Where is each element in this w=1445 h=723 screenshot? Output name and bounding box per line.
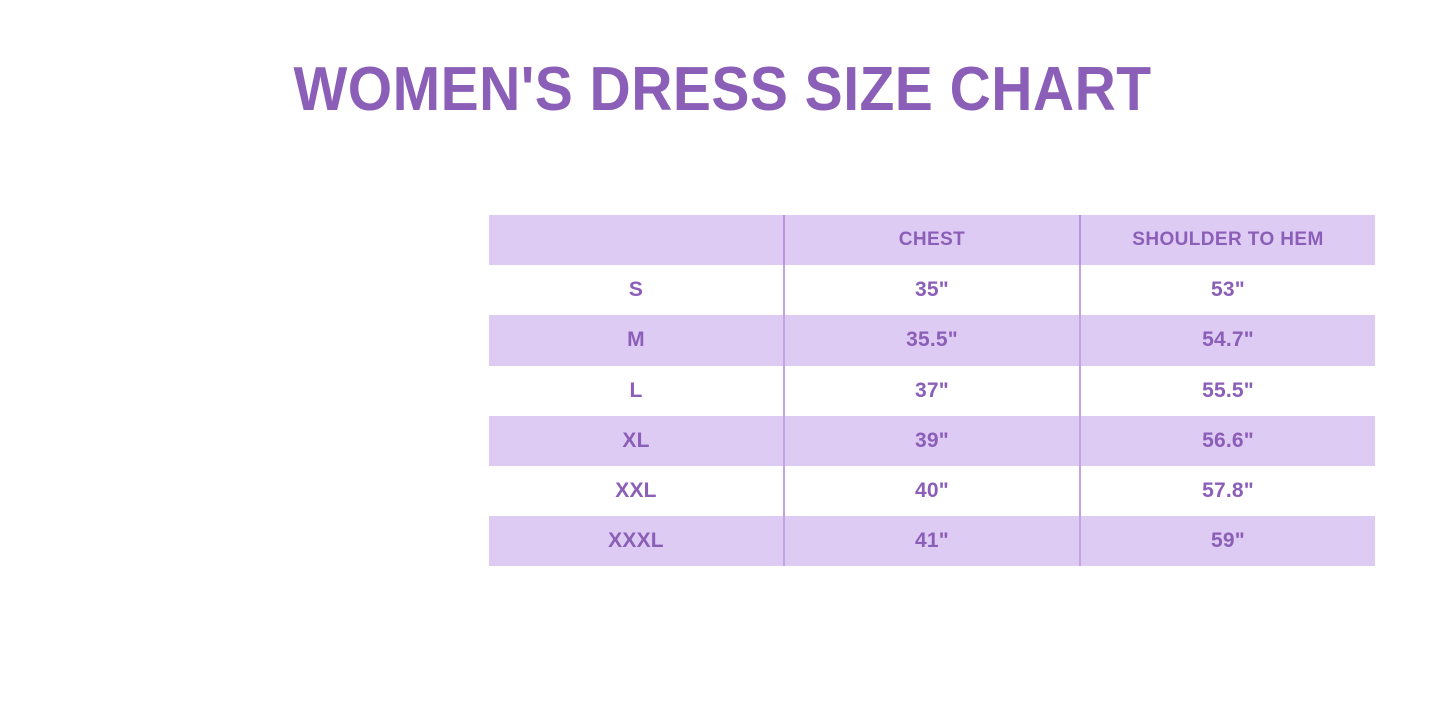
cell-size: S (489, 265, 784, 315)
cell-shoulder-to-hem: 57.8" (1080, 466, 1375, 516)
table-row: S 35" 53" (489, 265, 1375, 315)
table-row: L 37" 55.5" (489, 366, 1375, 416)
table-row: M 35.5" 54.7" (489, 315, 1375, 365)
column-header-size (489, 215, 784, 265)
table-header-row: CHEST SHOULDER TO HEM (489, 215, 1375, 265)
cell-shoulder-to-hem: 53" (1080, 265, 1375, 315)
cell-chest: 35" (784, 265, 1080, 315)
size-chart-table: CHEST SHOULDER TO HEM S 35" 53" M 35.5" … (489, 215, 1375, 566)
cell-size: XXL (489, 466, 784, 516)
table-body: S 35" 53" M 35.5" 54.7" L 37" 55.5" XL 3… (489, 265, 1375, 566)
table-header: CHEST SHOULDER TO HEM (489, 215, 1375, 265)
table-row: XXL 40" 57.8" (489, 466, 1375, 516)
cell-chest: 37" (784, 366, 1080, 416)
cell-chest: 41" (784, 516, 1080, 566)
table-row: XXXL 41" 59" (489, 516, 1375, 566)
cell-size: L (489, 366, 784, 416)
cell-shoulder-to-hem: 54.7" (1080, 315, 1375, 365)
table-row: XL 39" 56.6" (489, 416, 1375, 466)
size-chart-page: WOMEN'S DRESS SIZE CHART CHEST SHOULDER … (0, 0, 1445, 723)
cell-shoulder-to-hem: 59" (1080, 516, 1375, 566)
cell-chest: 39" (784, 416, 1080, 466)
cell-chest: 40" (784, 466, 1080, 516)
cell-size: M (489, 315, 784, 365)
cell-size: XL (489, 416, 784, 466)
cell-size: XXXL (489, 516, 784, 566)
cell-shoulder-to-hem: 55.5" (1080, 366, 1375, 416)
page-title: WOMEN'S DRESS SIZE CHART (58, 54, 1387, 126)
cell-chest: 35.5" (784, 315, 1080, 365)
column-header-shoulder-to-hem: SHOULDER TO HEM (1080, 215, 1375, 265)
column-header-chest: CHEST (784, 215, 1080, 265)
cell-shoulder-to-hem: 56.6" (1080, 416, 1375, 466)
